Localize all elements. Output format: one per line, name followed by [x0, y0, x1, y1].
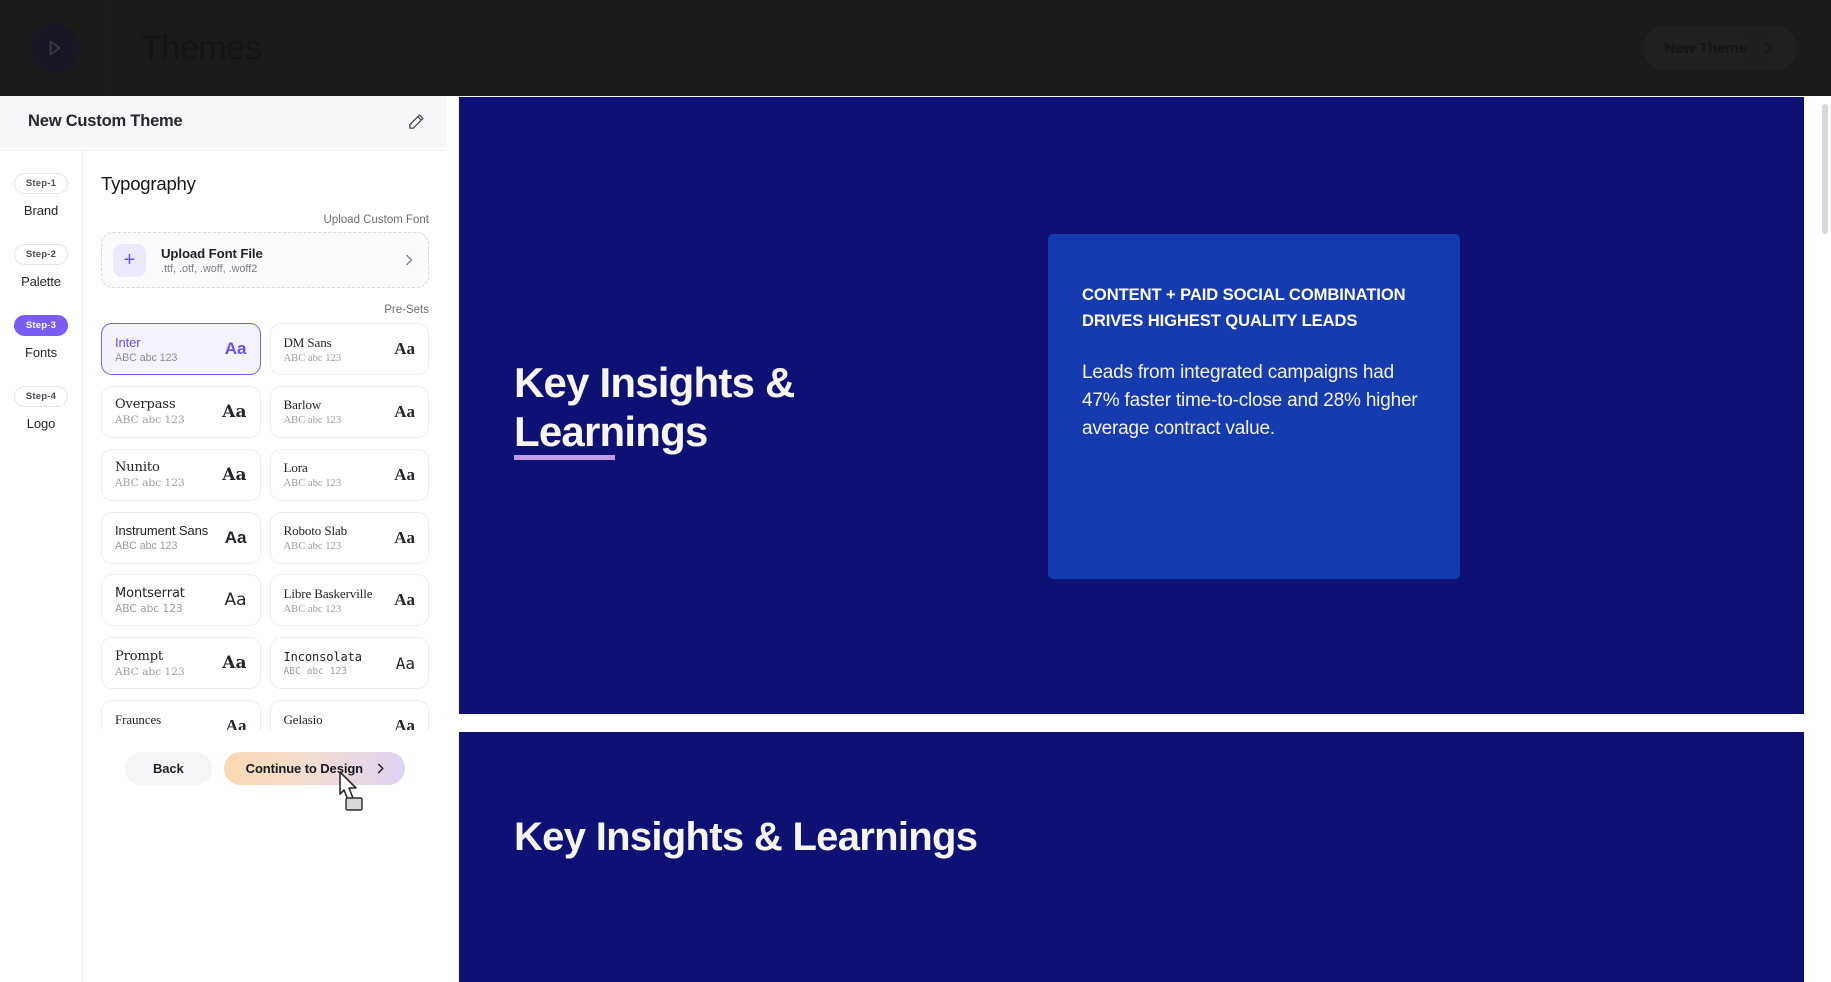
theme-name: New Custom Theme [28, 112, 183, 131]
preview-scrollbar-thumb[interactable] [1822, 104, 1828, 234]
step-badge: Step-3 [14, 315, 68, 336]
back-button[interactable]: Back [125, 752, 212, 785]
app-logo-icon[interactable] [30, 24, 79, 73]
top-bar: Themes New Theme [0, 0, 1831, 96]
slide-preview-2[interactable]: Key Insights & Learnings [459, 732, 1804, 982]
font-name: Inconsolata [284, 650, 362, 664]
font-sample: ABC abc 123 [284, 604, 373, 615]
font-aa-preview: Aa [222, 465, 246, 485]
step-label: Fonts [25, 345, 57, 360]
step-item-fonts[interactable]: Step-3 Fonts [0, 315, 82, 360]
font-name: Lora [284, 460, 342, 476]
step-label: Logo [27, 416, 56, 431]
font-aa-preview: Aa [222, 653, 246, 673]
font-sample: ABC abc 123 [115, 540, 208, 552]
font-aa-preview: Aa [396, 654, 415, 673]
chevron-right-icon [374, 762, 387, 775]
font-aa-preview: Aa [224, 590, 246, 610]
upload-texts: Upload Font File .ttf, .otf, .woff, .wof… [161, 246, 263, 275]
font-card-lora[interactable]: Lora ABC abc 123 Aa [270, 449, 430, 501]
font-aa-preview: Aa [222, 402, 246, 422]
app-logo-cell[interactable] [0, 0, 109, 96]
slide-1-stat-card: CONTENT + PAID SOCIAL COMBINATION DRIVES… [1048, 234, 1460, 579]
font-name: Overpass [115, 397, 185, 412]
chevron-right-icon [1761, 41, 1775, 55]
font-name: Libre Baskerville [284, 586, 373, 602]
upload-font-file-formats: .ttf, .otf, .woff, .woff2 [161, 263, 263, 275]
continue-label: Continue to Design [246, 761, 363, 776]
font-aa-preview: Aa [225, 528, 247, 548]
step-label: Brand [24, 203, 58, 218]
font-name: Gelasio [284, 712, 342, 728]
new-theme-button[interactable]: New Theme [1643, 26, 1797, 70]
font-card-roboto-slab[interactable]: Roboto Slab ABC abc 123 Aa [270, 512, 430, 564]
edit-pencil-icon[interactable] [407, 112, 426, 131]
font-card-libre-baskerville[interactable]: Libre Baskerville ABC abc 123 Aa [270, 574, 430, 626]
font-card-dm-sans[interactable]: DM Sans ABC abc 123 Aa [270, 323, 430, 375]
slide-2-heading: Key Insights & Learnings [514, 815, 977, 860]
panel-footer: Back Continue to Design [83, 730, 447, 982]
font-sample: ABC abc 123 [115, 352, 177, 364]
stat-card-body: Leads from integrated campaigns had 47% … [1082, 359, 1426, 443]
font-name: Inter [115, 335, 177, 350]
font-name: Nunito [115, 460, 185, 475]
font-card-instrument-sans[interactable]: Instrument Sans ABC abc 123 Aa [101, 512, 261, 564]
step-item-brand[interactable]: Step-1 Brand [0, 173, 82, 218]
font-name: Instrument Sans [115, 523, 208, 538]
continue-to-design-button[interactable]: Continue to Design [224, 752, 405, 785]
font-sample: ABC abc 123 [115, 477, 185, 489]
step-item-logo[interactable]: Step-4 Logo [0, 386, 82, 431]
upload-font-file-dropzone[interactable]: + Upload Font File .ttf, .otf, .woff, .w… [101, 232, 429, 288]
font-card-inconsolata[interactable]: Inconsolata ABC abc 123 Aa [270, 637, 430, 689]
font-aa-preview: Aa [394, 590, 415, 610]
font-name: DM Sans [284, 335, 342, 351]
font-card-montserrat[interactable]: Montserrat ABC abc 123 Aa [101, 574, 261, 626]
typography-panel-inner: Typography Upload Custom Font + Upload F… [83, 173, 447, 773]
presets-caption: Pre-Sets [101, 304, 429, 316]
font-sample: ABC abc 123 [284, 541, 348, 552]
step-badge: Step-2 [14, 244, 68, 265]
font-sample: ABC abc 123 [284, 478, 342, 489]
step-label: Palette [21, 274, 61, 289]
theme-name-bar: New Custom Theme [0, 96, 447, 147]
font-aa-preview: Aa [394, 402, 415, 422]
font-sample: ABC abc 123 [115, 414, 185, 426]
font-sample: ABC abc 123 [115, 603, 185, 615]
plus-icon: + [113, 244, 146, 277]
font-aa-preview: Aa [225, 339, 247, 359]
app-root: Themes New Theme New Custom Theme Step-1… [0, 0, 1831, 982]
upload-custom-font-caption: Upload Custom Font [101, 214, 429, 226]
font-card-nunito[interactable]: Nunito ABC abc 123 Aa [101, 449, 261, 501]
font-aa-preview: Aa [394, 465, 415, 485]
slide-preview-area[interactable]: Key Insights & Learnings CONTENT + PAID … [447, 96, 1831, 982]
font-sample: ABC abc 123 [284, 415, 342, 426]
font-sample: ABC abc 123 [115, 666, 185, 678]
slide-1-heading: Key Insights & Learnings [514, 359, 795, 456]
font-card-overpass[interactable]: Overpass ABC abc 123 Aa [101, 386, 261, 438]
font-name: Barlow [284, 397, 342, 413]
font-aa-preview: Aa [394, 339, 415, 359]
page-title: Themes [141, 29, 261, 68]
font-name: Fraunces [115, 712, 173, 728]
new-theme-label: New Theme [1665, 40, 1747, 57]
step-badge: Step-4 [14, 386, 68, 407]
font-card-prompt[interactable]: Prompt ABC abc 123 Aa [101, 637, 261, 689]
step-item-palette[interactable]: Step-2 Palette [0, 244, 82, 289]
typography-heading: Typography [101, 173, 429, 195]
slide-1-accent-rule [514, 455, 615, 460]
font-aa-preview: Aa [394, 528, 415, 548]
chevron-right-icon [402, 253, 416, 267]
step-badge: Step-1 [14, 173, 68, 194]
font-card-inter[interactable]: Inter ABC abc 123 Aa [101, 323, 261, 375]
font-sample: ABC abc 123 [284, 666, 362, 677]
font-name: Roboto Slab [284, 523, 348, 539]
font-name: Prompt [115, 649, 185, 664]
upload-font-file-title: Upload Font File [161, 246, 263, 261]
step-rail: Step-1 Brand Step-2 Palette Step-3 Fonts… [0, 150, 83, 982]
font-card-barlow[interactable]: Barlow ABC abc 123 Aa [270, 386, 430, 438]
stat-card-kicker: CONTENT + PAID SOCIAL COMBINATION DRIVES… [1082, 282, 1426, 333]
font-preset-grid: Inter ABC abc 123 Aa DM Sans ABC abc 123… [101, 323, 429, 753]
slide-preview-1[interactable]: Key Insights & Learnings CONTENT + PAID … [459, 97, 1804, 714]
font-name: Montserrat [115, 586, 185, 601]
font-sample: ABC abc 123 [284, 353, 342, 364]
